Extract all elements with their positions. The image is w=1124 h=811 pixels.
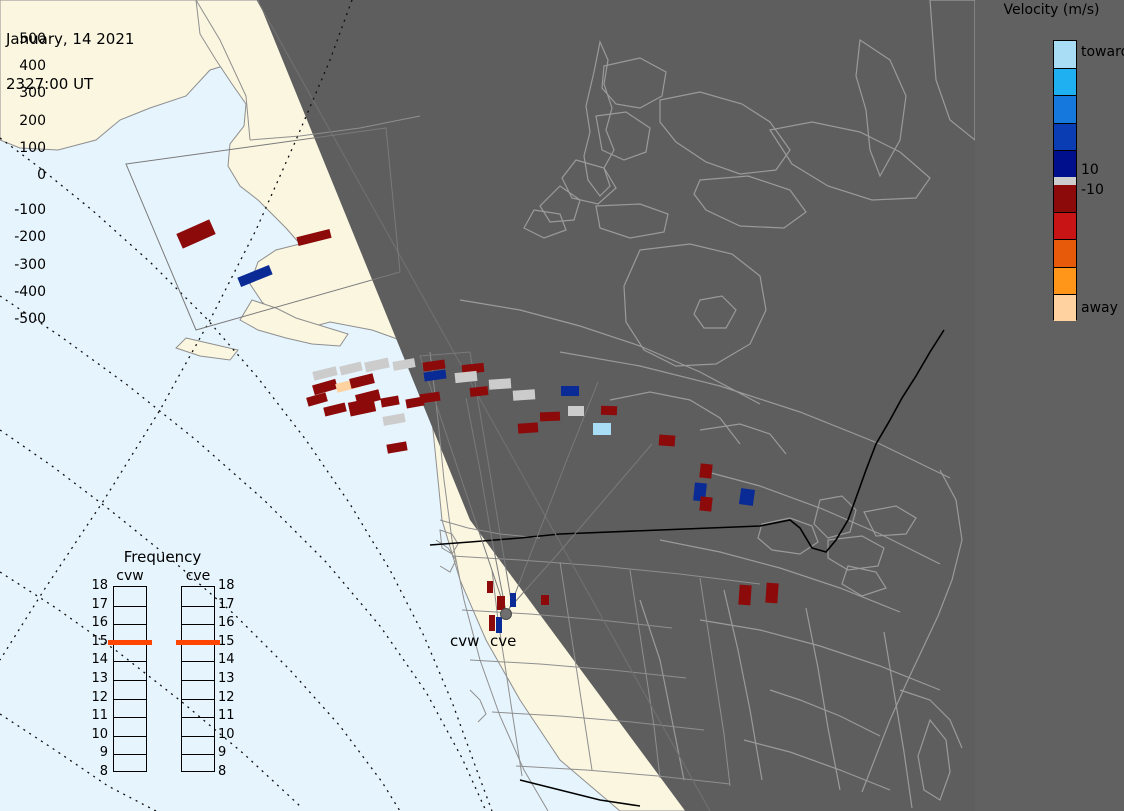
colorbar-segment: [1054, 212, 1076, 239]
colorbar-tick-label: 100: [19, 140, 46, 156]
frequency-tick-label: 13: [218, 671, 240, 686]
frequency-column-label-cvw: cvw: [110, 568, 150, 584]
frequency-tick-label: 11: [86, 708, 108, 723]
frequency-tick-label: 9: [86, 745, 108, 760]
colorbar-tick-label: 0: [37, 167, 46, 183]
velocity-cell: [738, 585, 751, 606]
frequency-bar-cvw[interactable]: [113, 586, 147, 772]
colorbar-tick-label: -200: [14, 229, 46, 245]
velocity-cell: [496, 617, 502, 633]
colorbar-title: Velocity (m/s): [979, 2, 1124, 18]
ground-scatter-cell: [513, 389, 536, 401]
velocity-cell: [540, 412, 560, 422]
colorbar-tick-label: -500: [14, 311, 46, 327]
colorbar-negative-threshold: -10: [1081, 182, 1104, 198]
velocity-cell: [593, 423, 611, 435]
velocity-cell: [470, 386, 489, 397]
frequency-gridline: [182, 717, 214, 718]
frequency-gridline: [182, 699, 214, 700]
velocity-cell: [489, 615, 495, 631]
velocity-cell: [699, 496, 712, 511]
colorbar-segment: [1054, 68, 1076, 95]
frequency-gridline: [182, 754, 214, 755]
colorbar-away-label: away: [1081, 300, 1118, 316]
colorbar-segment: [1054, 185, 1076, 212]
frequency-gridline: [182, 736, 214, 737]
colorbar-positive-threshold: 10: [1081, 162, 1099, 178]
colorbar-tick-label: 200: [19, 113, 46, 129]
site-label-cvw: cvw: [450, 632, 479, 650]
frequency-tick-label: 18: [218, 578, 240, 593]
frequency-tick-label: 12: [218, 690, 240, 705]
colorbar-tick-label: 500: [19, 31, 46, 47]
velocity-cell: [601, 406, 617, 416]
colorbar-segment: [1054, 177, 1076, 185]
velocity-cell: [699, 463, 712, 478]
frequency-gridline: [114, 661, 146, 662]
map-canvas[interactable]: January, 14 2021 2327:00 UT cvw cve Freq…: [0, 0, 975, 811]
colorbar-toward-label: toward: [1081, 44, 1124, 60]
velocity-cell: [765, 583, 778, 604]
colorbar-segment: [1054, 239, 1076, 266]
superdarn-map-view: January, 14 2021 2327:00 UT cvw cve Freq…: [0, 0, 1124, 811]
frequency-tick-label: 8: [218, 764, 240, 779]
frequency-gridline: [114, 754, 146, 755]
velocity-cell: [561, 386, 579, 396]
frequency-legend-title: Frequency: [90, 548, 235, 566]
frequency-gridline: [114, 606, 146, 607]
frequency-tick-label: 11: [218, 708, 240, 723]
colorbar-segment: [1054, 41, 1076, 68]
velocity-cell: [541, 595, 549, 605]
colorbar-divider: [1054, 267, 1076, 268]
frequency-tick-label: 17: [218, 597, 240, 612]
colorbar-strip[interactable]: [1053, 40, 1077, 320]
colorbar-segment: [1054, 123, 1076, 150]
colorbar-segment: [1054, 294, 1076, 321]
frequency-gridline: [114, 680, 146, 681]
colorbar-divider: [1054, 68, 1076, 69]
frequency-gridline: [182, 606, 214, 607]
frequency-tick-label: 9: [218, 745, 240, 760]
colorbar-segment: [1054, 95, 1076, 122]
frequency-tick-label: 18: [86, 578, 108, 593]
frequency-bar-cve[interactable]: [181, 586, 215, 772]
frequency-tick-label: 15: [86, 634, 108, 649]
colorbar-divider: [1054, 95, 1076, 96]
frequency-gridline: [182, 661, 214, 662]
velocity-cell: [510, 593, 516, 607]
velocity-colorbar: Velocity (m/s): [975, 0, 1124, 811]
colorbar-segment: [1054, 267, 1076, 294]
colorbar-tick-label: -300: [14, 257, 46, 273]
colorbar-divider: [1054, 294, 1076, 295]
radar-site-marker[interactable]: [501, 609, 512, 620]
colorbar-tick-label: 300: [19, 85, 46, 101]
frequency-tick-label: 10: [86, 727, 108, 742]
frequency-tick-label: 14: [86, 652, 108, 667]
velocity-cell: [659, 434, 676, 446]
frequency-marker: [176, 640, 220, 645]
frequency-tick-label: 16: [86, 615, 108, 630]
frequency-gridline: [114, 699, 146, 700]
colorbar-segment: [1054, 150, 1076, 177]
frequency-legend: Frequency cvw cve 18171615141312111098 1…: [90, 548, 235, 798]
frequency-tick-label: 15: [218, 634, 240, 649]
colorbar-tick-label: -400: [14, 284, 46, 300]
frequency-marker: [108, 640, 152, 645]
frequency-tick-label: 17: [86, 597, 108, 612]
frequency-tick-label: 12: [86, 690, 108, 705]
frequency-tick-label: 14: [218, 652, 240, 667]
ground-scatter-cell: [568, 406, 584, 416]
velocity-cell: [739, 488, 755, 506]
colorbar-divider: [1054, 239, 1076, 240]
velocity-cell: [487, 581, 493, 593]
ground-scatter-cell: [489, 378, 512, 390]
frequency-column-label-cve: cve: [178, 568, 218, 584]
frequency-tick-label: 13: [86, 671, 108, 686]
frequency-gridline: [114, 624, 146, 625]
colorbar-tick-label: -100: [14, 202, 46, 218]
frequency-gridline: [182, 680, 214, 681]
site-label-cve: cve: [490, 632, 516, 650]
velocity-cell: [497, 596, 505, 610]
colorbar-tick-label: 400: [19, 58, 46, 74]
frequency-gridline: [114, 736, 146, 737]
frequency-tick-label: 8: [86, 764, 108, 779]
colorbar-divider: [1054, 123, 1076, 124]
frequency-gridline: [182, 624, 214, 625]
frequency-gridline: [114, 717, 146, 718]
colorbar-divider: [1054, 212, 1076, 213]
velocity-cell: [518, 422, 539, 433]
frequency-tick-label: 16: [218, 615, 240, 630]
frequency-tick-label: 10: [218, 727, 240, 742]
colorbar-divider: [1054, 150, 1076, 151]
